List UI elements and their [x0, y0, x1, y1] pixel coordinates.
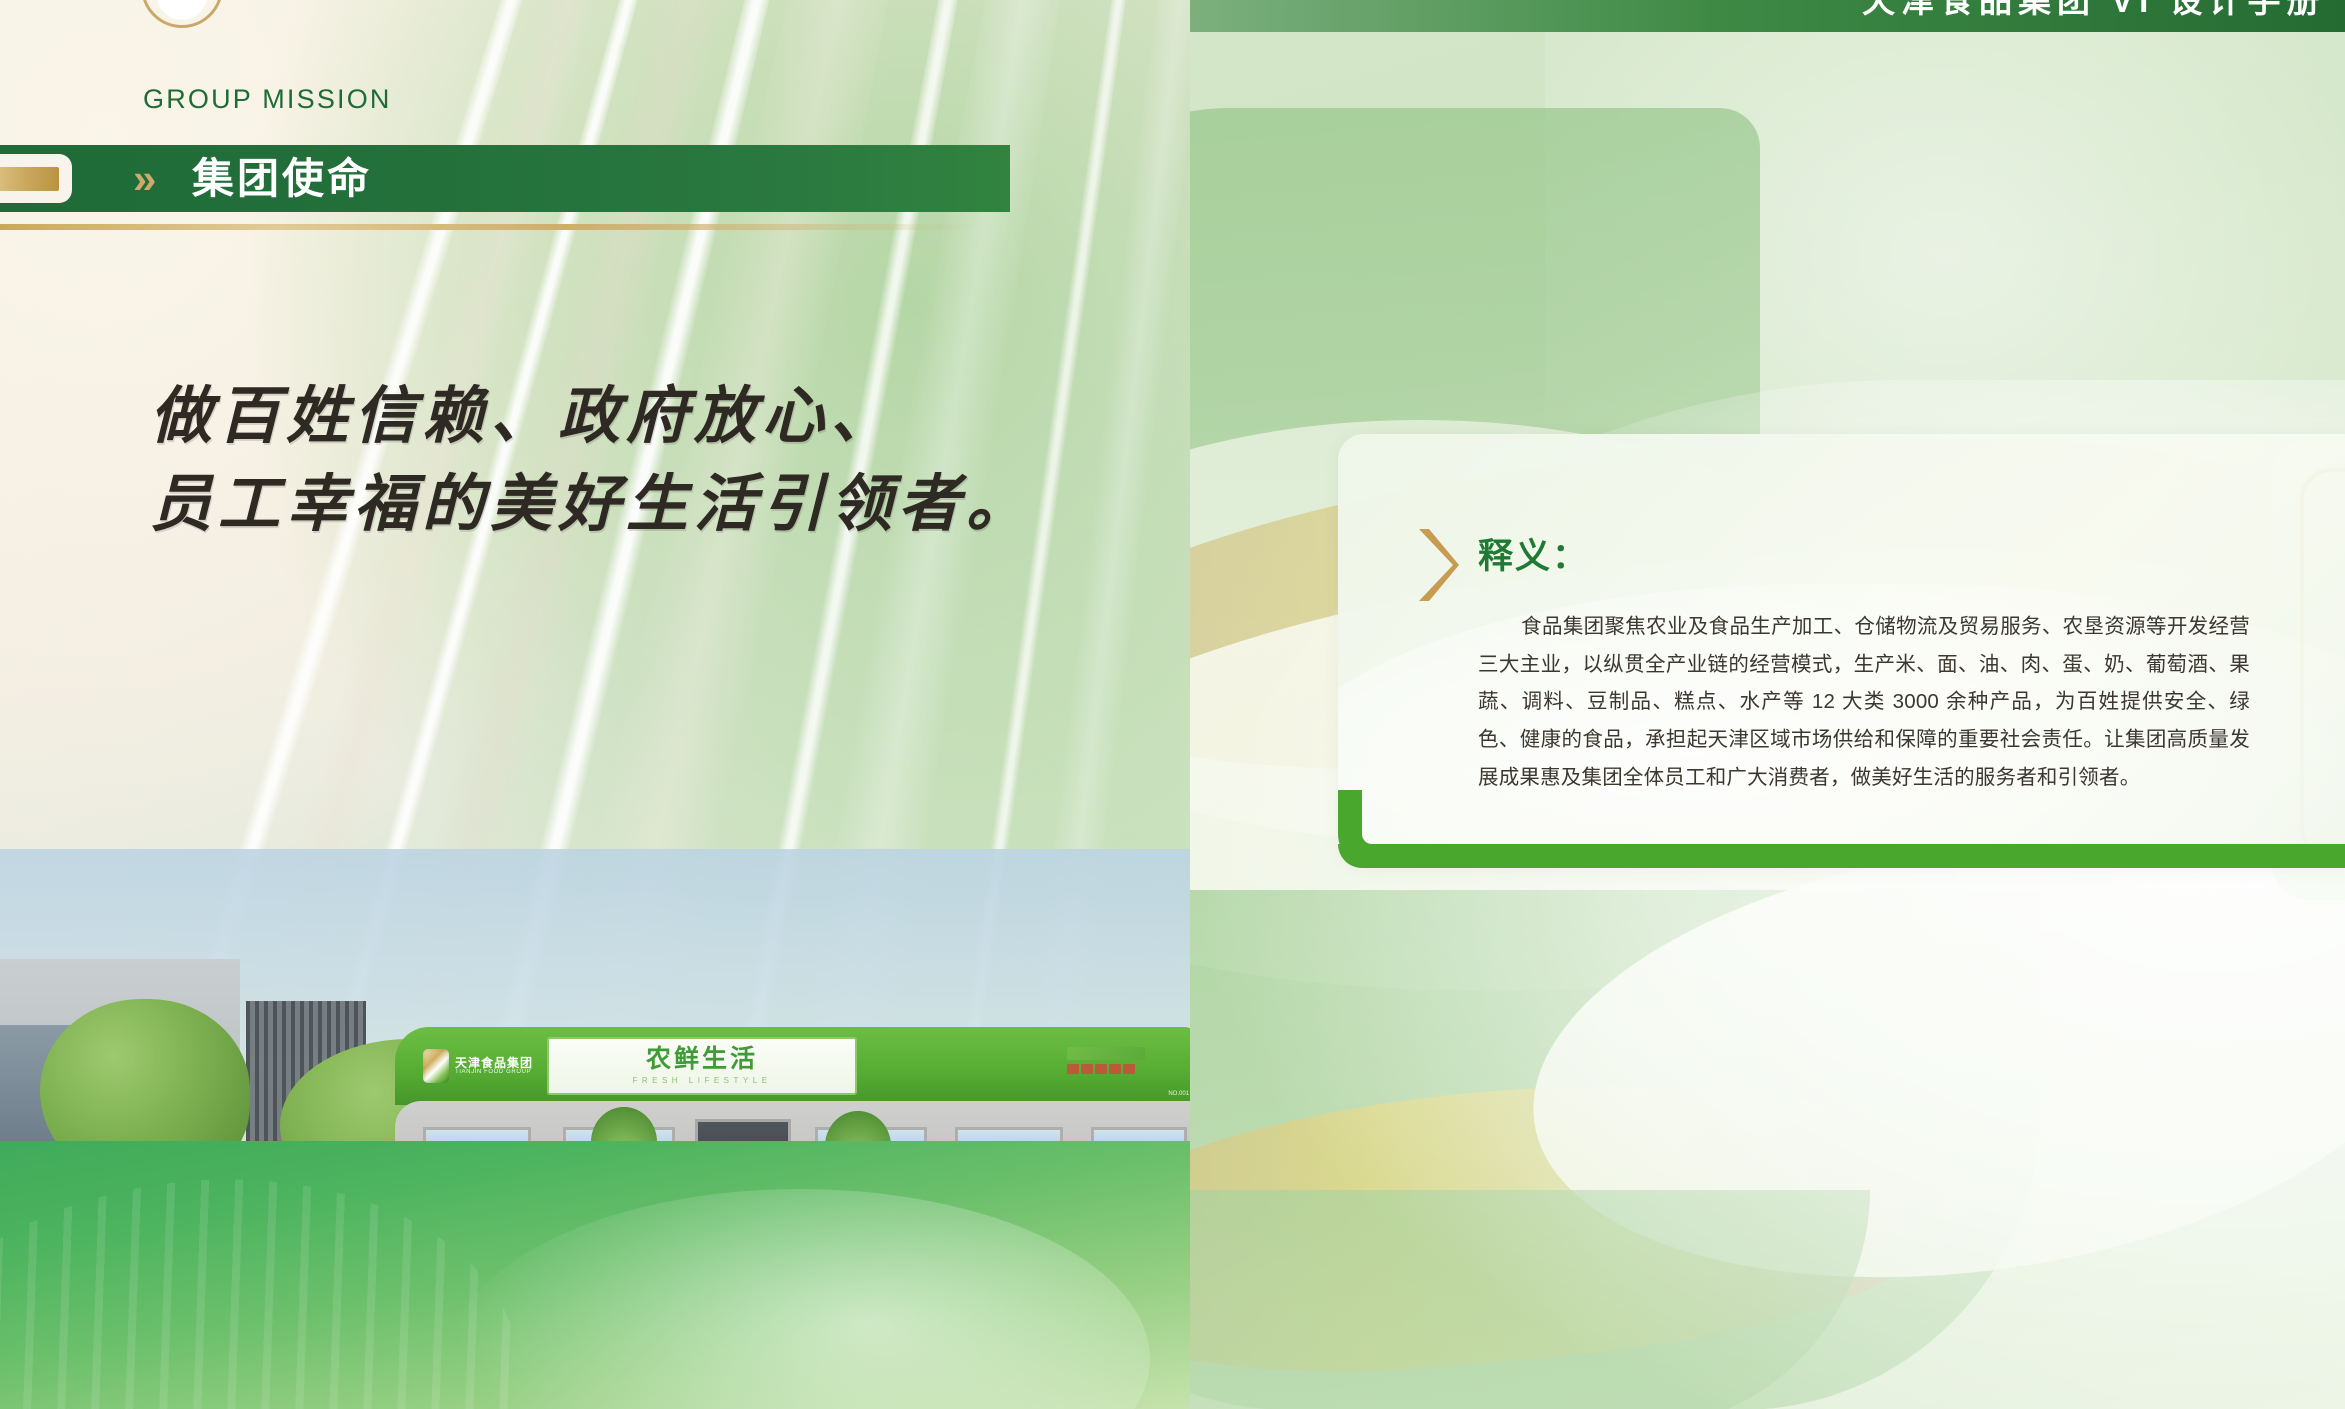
header-gold-chip: [0, 154, 72, 203]
brochure-page: 天津食品集团 TIANJIN FOOD GROUP 农鲜生活 FRESH LIF…: [0, 0, 2345, 1409]
top-right-headline: 天津食品集团 VI 设计手册: [1862, 0, 2326, 22]
green-lawn: [0, 1141, 1190, 1409]
header-gold-underline: [0, 224, 980, 230]
store-sign-en: FRESH LIFESTYLE: [632, 1076, 771, 1085]
section-eyebrow: GROUP MISSION: [143, 84, 392, 115]
mission-statement: 做百姓信赖、政府放心、 员工幸福的美好生活引领者。: [150, 372, 1050, 548]
gold-bar-icon: [0, 167, 59, 191]
explanation-title: 释义：: [1478, 528, 1589, 579]
double-chevron-right-icon: »: [133, 158, 152, 200]
card-bottom-corner: [1338, 790, 1398, 868]
mission-line-2: 员工幸福的美好生活引领者。: [150, 460, 1050, 548]
explanation-text: 食品集团聚焦农业及食品生产加工、仓储物流及贸易服务、农垦资源等开发经营三大主业，…: [1478, 615, 2250, 789]
page-title: 集团使命: [192, 156, 372, 202]
lawn-highlight: [450, 1189, 1150, 1409]
store-number: NO.001: [1168, 1091, 1189, 1097]
tianjin-food-group-mark-icon: [423, 1049, 449, 1083]
store-roof: 天津食品集团 TIANJIN FOOD GROUP 农鲜生活 FRESH LIF…: [395, 1027, 1190, 1105]
store-photo: 天津食品集团 TIANJIN FOOD GROUP 农鲜生活 FRESH LIF…: [0, 849, 1190, 1409]
mission-line-1: 做百姓信赖、政府放心、: [150, 379, 898, 452]
group-logo-cn: 天津食品集团: [455, 1057, 533, 1070]
left-panel: 天津食品集团 TIANJIN FOOD GROUP 农鲜生活 FRESH LIF…: [0, 0, 1190, 1409]
card-bottom-accent: [1338, 844, 2345, 868]
brand-strip: [1067, 1047, 1145, 1085]
store-sign-cn: 农鲜生活: [646, 1047, 758, 1072]
group-logo-en: TIANJIN FOOD GROUP: [455, 1069, 533, 1075]
store-group-logo: 天津食品集团 TIANJIN FOOD GROUP: [423, 1039, 533, 1093]
explanation-body: 食品集团聚焦农业及食品生产加工、仓储物流及贸易服务、农垦资源等开发经营三大主业，…: [1478, 608, 2250, 797]
store-signboard: 农鲜生活 FRESH LIFESTYLE: [547, 1037, 857, 1095]
